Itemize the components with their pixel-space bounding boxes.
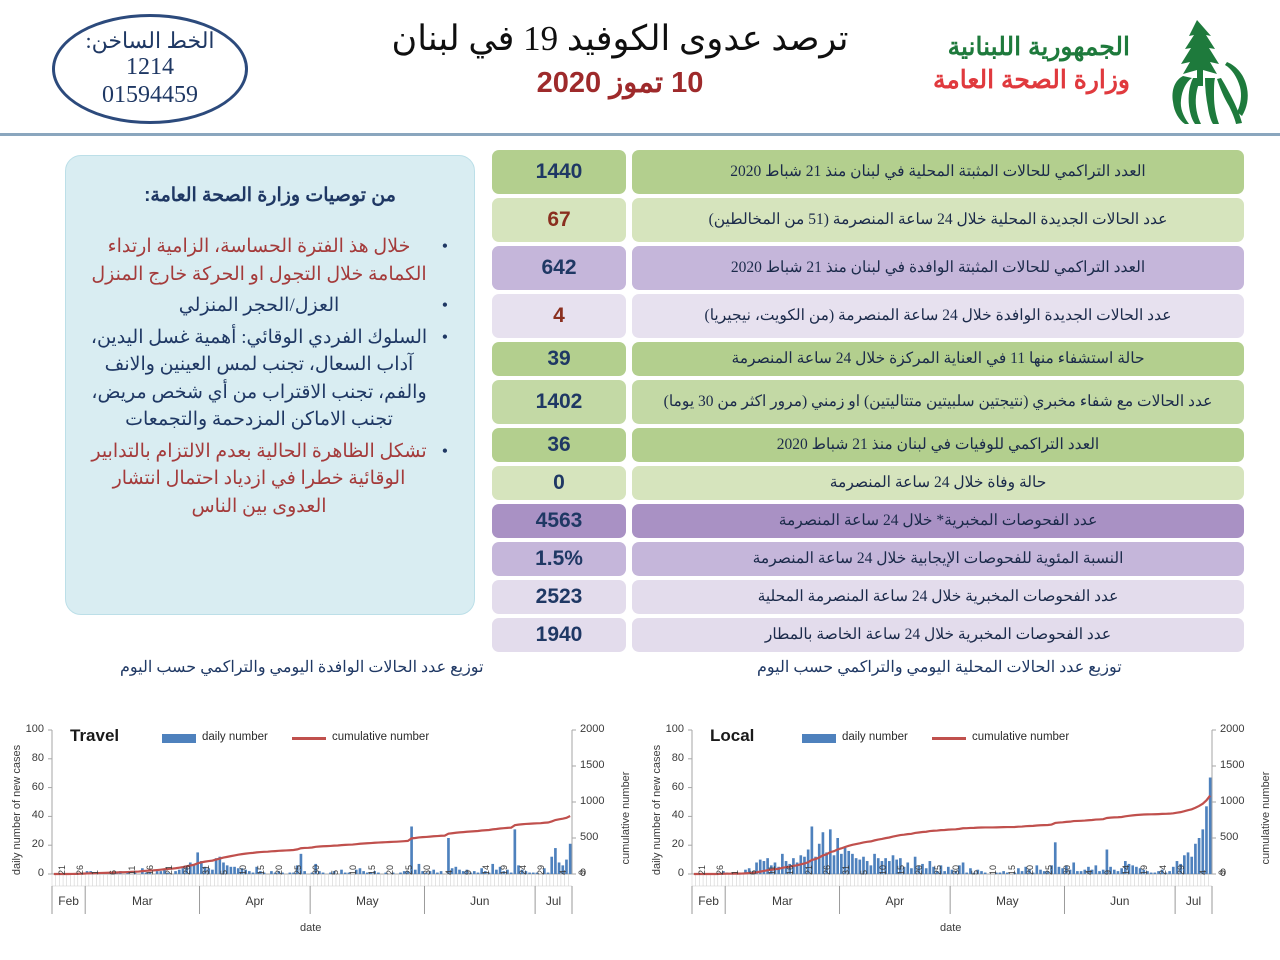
daily-bar — [270, 871, 273, 874]
x-axis-tick-label: 9 — [577, 870, 587, 875]
daily-bar — [947, 867, 950, 874]
x-axis-tick-label: 20 — [914, 865, 924, 875]
daily-bar — [1021, 871, 1024, 874]
daily-bar — [873, 854, 876, 874]
daily-bar — [1080, 871, 1083, 874]
daily-bar — [1054, 842, 1057, 874]
x-axis-month-label: May — [987, 894, 1027, 908]
daily-bar — [248, 871, 251, 874]
stat-label: حالة استشفاء منها 11 في العناية المركزة … — [632, 342, 1244, 376]
legend-label-daily: daily number — [842, 731, 908, 743]
x-axis-tick-label: 1 — [730, 870, 740, 875]
x-axis-tick-label: 21 — [164, 865, 174, 875]
stat-value: 4563 — [492, 504, 626, 538]
daily-bar — [833, 855, 836, 874]
daily-bar — [359, 868, 362, 874]
daily-bar — [892, 855, 895, 874]
daily-bar — [230, 867, 233, 874]
local-chart: Localdaily numbercumulative number020406… — [640, 712, 1280, 960]
x-axis-tick-label: 21 — [804, 865, 814, 875]
stat-label: عدد الحالات الجديدة الوافدة خلال 24 ساعة… — [632, 294, 1244, 338]
stat-value: 1402 — [492, 380, 626, 424]
daily-bar — [418, 864, 421, 874]
x-axis-tick-label: 25 — [1044, 865, 1054, 875]
recommendation-item: خلال هذ الفترة الحساسة، الزامية ارتداء ا… — [90, 233, 450, 288]
stat-label: عدد الفحوصات المخبرية خلال 24 ساعة الخاص… — [632, 618, 1244, 652]
daily-bar — [1205, 806, 1208, 874]
recommendation-item: العزل/الحجر المنزلي — [90, 292, 450, 320]
daily-bar — [432, 870, 435, 874]
stat-label: عدد الحالات مع شفاء مخبري (نتيجتين سلبيت… — [632, 380, 1244, 424]
daily-bar — [233, 867, 236, 874]
daily-bar — [514, 829, 517, 874]
daily-bar — [855, 858, 858, 874]
cumulative-line — [694, 796, 1210, 874]
daily-bar — [303, 871, 306, 874]
daily-bar — [569, 844, 572, 874]
logo-republic-label: الجمهورية اللبنانية — [880, 32, 1130, 62]
daily-bar — [289, 873, 292, 874]
daily-bar — [532, 873, 535, 874]
daily-bar — [528, 873, 531, 874]
daily-bar — [550, 857, 553, 874]
x-axis-month-label: Feb — [689, 894, 729, 908]
legend-swatch-daily — [162, 734, 196, 743]
x-axis-month-label: Jul — [534, 894, 574, 908]
x-axis-tick-label: 30 — [1062, 865, 1072, 875]
daily-bar — [1187, 852, 1190, 874]
x-axis-month-label: Apr — [235, 894, 275, 908]
header-divider — [0, 133, 1280, 136]
table-row: عدد الحالات مع شفاء مخبري (نتيجتين سلبيت… — [492, 380, 1244, 424]
stat-label: العدد التراكمي للحالات المثبتة المحلية ف… — [632, 150, 1244, 194]
daily-bar — [1201, 829, 1204, 874]
hotline-label: الخط الساخن: — [86, 28, 215, 54]
daily-bar — [554, 848, 557, 874]
daily-bar — [477, 873, 480, 874]
y-axis-title: daily number of new cases — [11, 725, 23, 895]
x-axis-tick-label: 26 — [182, 865, 192, 875]
legend-label-cumulative: cumulative number — [332, 731, 429, 743]
daily-bar — [495, 870, 498, 874]
daily-bar — [1194, 844, 1197, 874]
recommendations-list: خلال هذ الفترة الحساسة، الزامية ارتداء ا… — [90, 233, 450, 520]
recommendations-title: من توصيات وزارة الصحة العامة: — [90, 184, 450, 207]
daily-bar — [156, 871, 159, 874]
x-axis-tick-label: 24 — [518, 865, 528, 875]
x-axis-tick-label: 5 — [859, 870, 869, 875]
daily-bar — [929, 861, 932, 874]
x-axis-tick-label: 30 — [311, 865, 321, 875]
table-row: حالة استشفاء منها 11 في العناية المركزة … — [492, 342, 1244, 376]
y2-axis-tick-label: 500 — [580, 831, 610, 843]
stat-value: 4 — [492, 294, 626, 338]
daily-bar — [1002, 871, 1005, 874]
daily-bar — [1117, 871, 1120, 874]
x-axis-title: date — [940, 922, 961, 934]
chart-title: Travel — [70, 726, 119, 746]
title-block: ترصد عدوى الكوفيد 19 في لبنان 10 تموز 20… — [300, 18, 940, 100]
y2-axis-tick-label: 1500 — [580, 759, 610, 771]
y2-axis-tick-label: 1000 — [580, 795, 610, 807]
daily-bar — [999, 873, 1002, 874]
daily-bar — [962, 862, 965, 874]
logo-ministry-label: وزارة الصحة العامة — [880, 65, 1130, 95]
x-axis-tick-label: 15 — [367, 865, 377, 875]
x-axis-tick-label: 16 — [145, 865, 155, 875]
x-axis-title: date — [300, 922, 321, 934]
stat-value: 0 — [492, 466, 626, 500]
table-row: عدد الحالات الجديدة الوافدة خلال 24 ساعة… — [492, 294, 1244, 338]
chart-title: Local — [710, 726, 754, 746]
x-axis-month-label: Feb — [49, 894, 89, 908]
x-axis-tick-label: 15 — [896, 865, 906, 875]
daily-bar — [1190, 857, 1193, 874]
x-axis-tick-label: 20 — [1025, 865, 1035, 875]
daily-bar — [340, 870, 343, 874]
stat-value: 2523 — [492, 580, 626, 614]
x-axis-tick-label: 30 — [422, 865, 432, 875]
x-axis-tick-label: 26 — [715, 865, 725, 875]
daily-bar — [851, 854, 854, 874]
x-axis-tick-label: 11 — [767, 866, 777, 875]
report-page: الخط الساخن: 1214 01594459 ترصد عدوى الك… — [0, 0, 1280, 960]
daily-bar — [1098, 871, 1101, 874]
y2-axis-tick-label: 2000 — [580, 723, 610, 735]
stat-label: حالة وفاة خلال 24 ساعة المنصرمة — [632, 466, 1244, 500]
x-axis-month-label: May — [347, 894, 387, 908]
x-axis-month-label: Mar — [122, 894, 162, 908]
daily-bar — [174, 871, 177, 874]
daily-bar — [1154, 873, 1157, 874]
daily-bar — [1039, 870, 1042, 874]
daily-bar — [491, 864, 494, 874]
x-axis-tick-label: 31 — [201, 865, 211, 875]
y2-axis-tick-label: 500 — [1220, 831, 1250, 843]
stat-label: العدد التراكمي للوفيات في لبنان منذ 21 ش… — [632, 428, 1244, 462]
daily-bar — [377, 873, 380, 874]
daily-bar — [510, 873, 513, 874]
stat-value: 67 — [492, 198, 626, 242]
x-axis-tick-label: 19 — [499, 865, 509, 875]
x-axis-tick-label: 31 — [841, 865, 851, 875]
x-axis-tick-label: 21 — [57, 865, 67, 875]
daily-bar — [965, 873, 968, 874]
daily-bar — [1072, 862, 1075, 874]
x-axis-tick-label: 11 — [127, 866, 137, 875]
table-row: عدد الفحوصات المخبرية* خلال 24 ساعة المن… — [492, 504, 1244, 538]
daily-bar — [943, 871, 946, 874]
daily-bar — [1095, 865, 1098, 874]
x-axis-tick-label: 16 — [785, 865, 795, 875]
x-axis-month-label: Mar — [762, 894, 802, 908]
daily-bar — [178, 870, 181, 874]
local-chart-canvas: Localdaily numbercumulative number020406… — [640, 712, 1280, 960]
x-axis-tick-label: 26 — [75, 865, 85, 875]
x-axis-tick-label: 30 — [951, 865, 961, 875]
x-axis-tick-label: 1 — [90, 870, 100, 875]
y2-axis-tick-label: 2000 — [1220, 723, 1250, 735]
table-row: حالة وفاة خلال 24 ساعة المنصرمة0 — [492, 466, 1244, 500]
daily-bar — [455, 867, 458, 874]
x-axis-tick-label: 14 — [1121, 865, 1131, 875]
table-row: النسبة المئوية للفحوصات الإيجابية خلال 2… — [492, 542, 1244, 576]
x-axis-tick-label: 20 — [274, 865, 284, 875]
travel-chart: Traveldaily numbercumulative number02040… — [0, 712, 640, 960]
report-date: 10 تموز 2020 — [300, 65, 940, 100]
stat-label: النسبة المئوية للفحوصات الإيجابية خلال 2… — [632, 542, 1244, 576]
x-axis-tick-label: 5 — [330, 870, 340, 875]
stat-label: العدد التراكمي للحالات المثبتة الوافدة ف… — [632, 246, 1244, 290]
daily-bar — [1198, 838, 1201, 874]
x-axis-month-label: Jul — [1174, 894, 1214, 908]
ministry-logo: الجمهورية اللبنانية وزارة الصحة العامة — [955, 12, 1255, 124]
daily-bar — [414, 870, 417, 874]
x-axis-tick-label: 25 — [933, 865, 943, 875]
daily-bar — [344, 873, 347, 874]
stat-value: 642 — [492, 246, 626, 290]
table-row: العدد التراكمي للوفيات في لبنان منذ 21 ش… — [492, 428, 1244, 462]
x-axis-tick-label: 4 — [1198, 870, 1208, 875]
x-axis-tick-label: 15 — [1007, 865, 1017, 875]
x-axis-tick-label: 29 — [1176, 865, 1186, 875]
daily-bar — [447, 838, 450, 874]
daily-bar — [888, 861, 891, 874]
x-axis-tick-label: 4 — [558, 870, 568, 875]
x-axis-tick-label: 10 — [878, 865, 888, 875]
x-axis-tick-label: 9 — [463, 870, 473, 875]
legend-label-cumulative: cumulative number — [972, 731, 1069, 743]
travel-chart-canvas: Traveldaily numbercumulative number02040… — [0, 712, 640, 960]
hotline-number-primary: 1214 — [126, 54, 174, 82]
travel-chart-caption: توزيع عدد الحالات الوافدة اليومي والتراك… — [120, 657, 484, 677]
table-row: العدد التراكمي للحالات المثبتة الوافدة ف… — [492, 246, 1244, 290]
x-axis-tick-label: 14 — [481, 865, 491, 875]
daily-bar — [1076, 871, 1079, 874]
x-axis-tick-label: 24 — [1158, 865, 1168, 875]
statistics-table: العدد التراكمي للحالات المثبتة المحلية ف… — [492, 150, 1244, 656]
x-axis-tick-label: 25 — [293, 865, 303, 875]
x-axis-tick-label: 10 — [988, 865, 998, 875]
y2-axis-tick-label: 1500 — [1220, 759, 1250, 771]
stat-value: 36 — [492, 428, 626, 462]
x-axis-tick-label: 10 — [238, 865, 248, 875]
x-axis-tick-label: 6 — [748, 870, 758, 875]
legend-label-daily: daily number — [202, 731, 268, 743]
stat-label: عدد الفحوصات المخبرية خلال 24 ساعة المنص… — [632, 580, 1244, 614]
x-axis-tick-label: 4 — [1084, 870, 1094, 875]
daily-bar — [836, 838, 839, 874]
daily-bar — [440, 871, 443, 874]
x-axis-tick-label: 29 — [536, 865, 546, 875]
page-title: ترصد عدوى الكوفيد 19 في لبنان — [300, 18, 940, 61]
daily-bar — [781, 854, 784, 874]
hotline-number-secondary: 01594459 — [102, 82, 198, 110]
daily-bar — [1150, 873, 1153, 874]
x-axis-tick-label: 5 — [219, 870, 229, 875]
daily-bar — [1036, 865, 1039, 874]
hotline-badge: الخط الساخن: 1214 01594459 — [52, 14, 248, 124]
x-axis-tick-label: 5 — [970, 870, 980, 875]
daily-bar — [870, 865, 873, 874]
x-axis-tick-label: 6 — [108, 870, 118, 875]
daily-bar — [399, 873, 402, 874]
y2-axis-title: cumulative number — [620, 748, 632, 888]
daily-bar — [1209, 778, 1212, 874]
daily-bar — [1058, 867, 1061, 874]
daily-bar — [1168, 871, 1171, 874]
x-axis-tick-label: 19 — [1139, 865, 1149, 875]
x-axis-tick-label: 15 — [256, 865, 266, 875]
daily-bar — [984, 873, 987, 874]
page-header: الخط الساخن: 1214 01594459 ترصد عدوى الك… — [0, 0, 1280, 136]
table-row: عدد الفحوصات المخبرية خلال 24 ساعة المنص… — [492, 580, 1244, 614]
x-axis-month-label: Jun — [1100, 894, 1140, 908]
daily-bar — [547, 873, 550, 874]
daily-bar — [925, 868, 928, 874]
daily-bar — [458, 870, 461, 874]
stat-label: عدد الفحوصات المخبرية* خلال 24 ساعة المن… — [632, 504, 1244, 538]
x-axis-tick-label: 21 — [697, 865, 707, 875]
y2-axis-tick-label: 1000 — [1220, 795, 1250, 807]
x-axis-tick-label: 20 — [385, 865, 395, 875]
x-axis-tick-label: 25 — [404, 865, 414, 875]
daily-bar — [473, 871, 476, 874]
legend-swatch-cumulative — [292, 737, 326, 740]
daily-bar — [980, 871, 983, 874]
recommendation-item: السلوك الفردي الوقائي: أهمية غسل اليدين،… — [90, 324, 450, 434]
x-axis-month-label: Apr — [875, 894, 915, 908]
cedar-tree-hand-icon — [1145, 16, 1255, 128]
stat-value: 39 — [492, 342, 626, 376]
daily-bar — [159, 871, 162, 874]
y-axis-title: daily number of new cases — [651, 725, 663, 895]
daily-bar — [436, 873, 439, 874]
recommendation-item: تشكل الظاهرة الحالية بعدم الالتزام بالتد… — [90, 438, 450, 521]
daily-bar — [322, 873, 325, 874]
daily-bar — [910, 868, 913, 874]
x-axis-tick-label: 26 — [822, 865, 832, 875]
y2-axis-title: cumulative number — [1260, 748, 1272, 888]
daily-bar — [252, 873, 255, 874]
table-row: العدد التراكمي للحالات المثبتة المحلية ف… — [492, 150, 1244, 194]
recommendations-panel: من توصيات وزارة الصحة العامة: خلال هذ ال… — [65, 155, 475, 615]
legend-swatch-cumulative — [932, 737, 966, 740]
daily-bar — [1135, 867, 1138, 874]
stat-value: 1.5% — [492, 542, 626, 576]
table-row: عدد الحالات الجديدة المحلية خلال 24 ساعة… — [492, 198, 1244, 242]
stat-label: عدد الحالات الجديدة المحلية خلال 24 ساعة… — [632, 198, 1244, 242]
x-axis-tick-label: 9 — [1217, 870, 1227, 875]
local-chart-caption: توزيع عدد الحالات المحلية اليومي والتراك… — [757, 657, 1122, 677]
table-row: عدد الفحوصات المخبرية خلال 24 ساعة الخاص… — [492, 618, 1244, 652]
x-axis-tick-label: 10 — [348, 865, 358, 875]
stat-value: 1940 — [492, 618, 626, 652]
x-axis-tick-label: 9 — [1103, 870, 1113, 875]
daily-bar — [906, 862, 909, 874]
daily-bar — [1017, 868, 1020, 874]
daily-bar — [362, 871, 365, 874]
daily-bar — [1131, 865, 1134, 874]
daily-bar — [1113, 870, 1116, 874]
daily-bar — [1172, 867, 1175, 874]
x-axis-month-label: Jun — [460, 894, 500, 908]
legend-swatch-daily — [802, 734, 836, 743]
x-axis-tick-label: 4 — [444, 870, 454, 875]
stat-value: 1440 — [492, 150, 626, 194]
daily-bar — [211, 870, 214, 874]
